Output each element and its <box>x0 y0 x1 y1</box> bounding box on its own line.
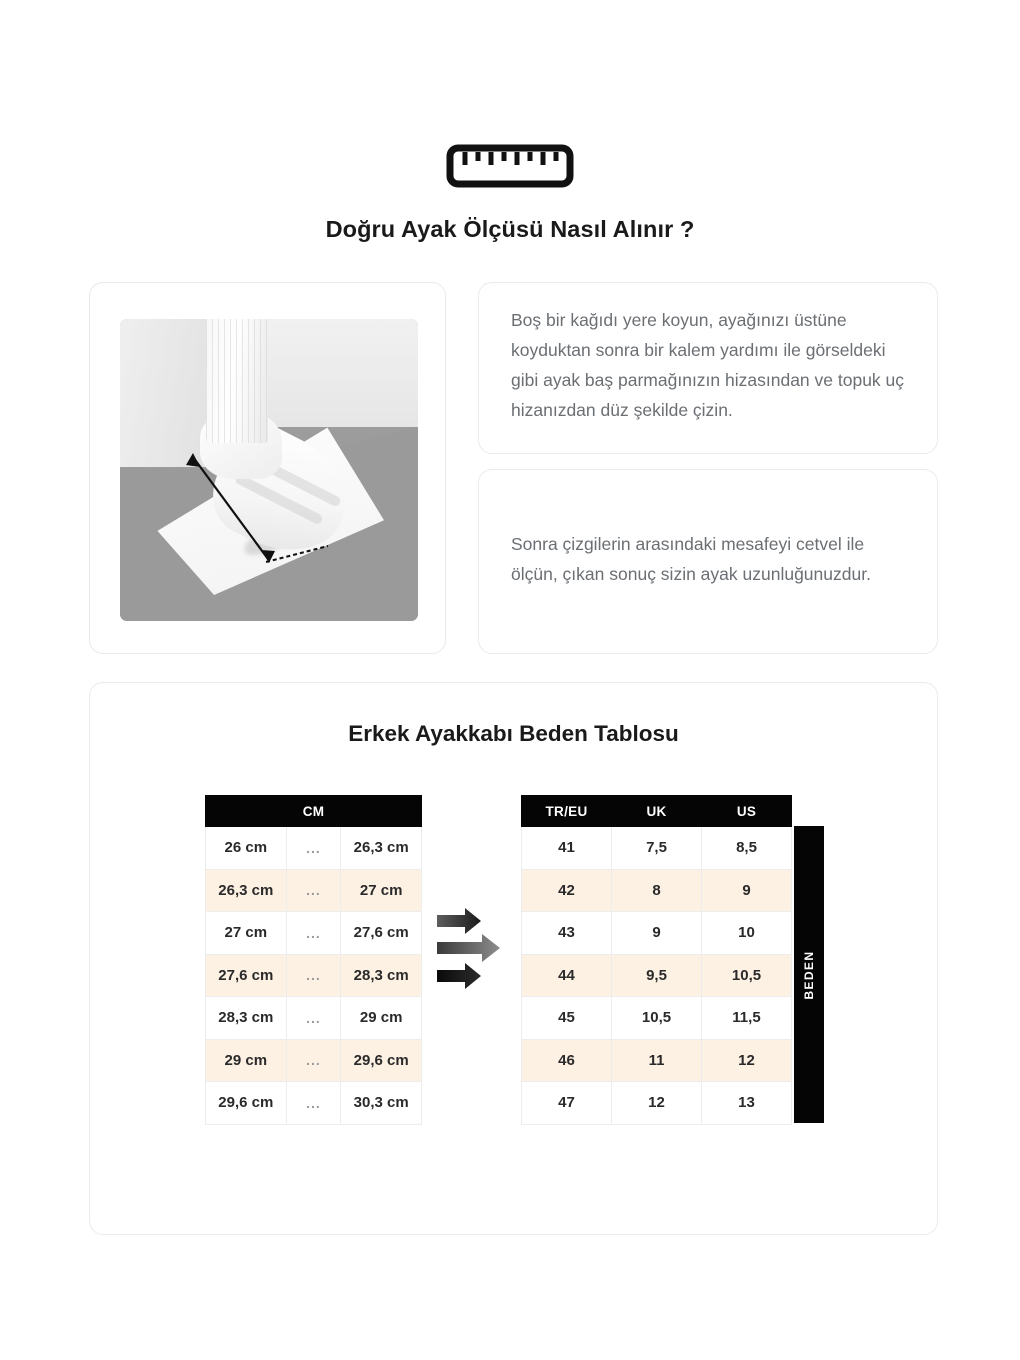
beden-label: BEDEN <box>802 950 816 999</box>
instruction-text-1: Boş bir kağıdı yere koyun, ayağınızı üst… <box>511 305 905 425</box>
size-us: 10 <box>701 912 791 955</box>
foot-measurement-photo <box>120 319 418 621</box>
size-chart-title: Erkek Ayakkabı Beden Tablosu <box>90 721 937 747</box>
size-tr-eu: 43 <box>522 912 612 955</box>
size-table-header-tr-eu: TR/EU <box>522 796 612 827</box>
table-row: 26 cm ... 26,3 cm <box>206 827 422 870</box>
size-us: 12 <box>701 1039 791 1082</box>
cm-to: 30,3 cm <box>341 1082 422 1125</box>
size-tr-eu: 46 <box>522 1039 612 1082</box>
cm-from: 26,3 cm <box>206 869 287 912</box>
cm-separator: ... <box>286 869 341 912</box>
size-uk: 8 <box>612 869 702 912</box>
size-uk: 10,5 <box>612 997 702 1040</box>
cm-separator: ... <box>286 954 341 997</box>
cm-table-header-row: CM <box>206 796 422 827</box>
cm-to: 26,3 cm <box>341 827 422 870</box>
size-table-header-us: US <box>701 796 791 827</box>
table-row: 45 10,5 11,5 <box>522 997 792 1040</box>
table-row: 28,3 cm ... 29 cm <box>206 997 422 1040</box>
cm-separator: ... <box>286 912 341 955</box>
size-uk: 9,5 <box>612 954 702 997</box>
cm-to: 27 cm <box>341 869 422 912</box>
size-tr-eu: 44 <box>522 954 612 997</box>
size-tr-eu: 45 <box>522 997 612 1040</box>
size-tr-eu: 41 <box>522 827 612 870</box>
instruction-photo-card <box>89 282 446 654</box>
table-row: 46 11 12 <box>522 1039 792 1082</box>
size-uk: 7,5 <box>612 827 702 870</box>
size-table: TR/EU UK US 41 7,5 8,5 42 8 9 43 9 10 <box>521 795 792 1125</box>
size-table-header-row: TR/EU UK US <box>522 796 792 827</box>
table-row: 27,6 cm ... 28,3 cm <box>206 954 422 997</box>
ruler-icon <box>445 142 575 190</box>
size-table-header-uk: UK <box>612 796 702 827</box>
size-uk: 9 <box>612 912 702 955</box>
table-row: 26,3 cm ... 27 cm <box>206 869 422 912</box>
page-title: Doğru Ayak Ölçüsü Nasıl Alınır ? <box>0 216 1020 243</box>
table-row: 27 cm ... 27,6 cm <box>206 912 422 955</box>
cm-from: 29,6 cm <box>206 1082 287 1125</box>
cm-from: 27,6 cm <box>206 954 287 997</box>
size-us: 8,5 <box>701 827 791 870</box>
cm-separator: ... <box>286 997 341 1040</box>
size-tr-eu: 42 <box>522 869 612 912</box>
beden-side-column: BEDEN <box>794 826 824 1123</box>
cm-separator: ... <box>286 1082 341 1125</box>
size-tr-eu: 47 <box>522 1082 612 1125</box>
size-us: 11,5 <box>701 997 791 1040</box>
cm-from: 29 cm <box>206 1039 287 1082</box>
instruction-card-2: Sonra çizgilerin arasındaki mesafeyi cet… <box>478 469 938 654</box>
cm-from: 27 cm <box>206 912 287 955</box>
table-row: 43 9 10 <box>522 912 792 955</box>
cm-to: 29,6 cm <box>341 1039 422 1082</box>
cm-separator: ... <box>286 827 341 870</box>
table-row: 29,6 cm ... 30,3 cm <box>206 1082 422 1125</box>
size-us: 13 <box>701 1082 791 1125</box>
table-row: 47 12 13 <box>522 1082 792 1125</box>
table-row: 29 cm ... 29,6 cm <box>206 1039 422 1082</box>
table-row: 42 8 9 <box>522 869 792 912</box>
ruler-icon-wrapper <box>0 142 1020 190</box>
table-row: 44 9,5 10,5 <box>522 954 792 997</box>
size-us: 9 <box>701 869 791 912</box>
instruction-text-2: Sonra çizgilerin arasındaki mesafeyi cet… <box>511 529 905 589</box>
size-uk: 12 <box>612 1082 702 1125</box>
table-row: 41 7,5 8,5 <box>522 827 792 870</box>
right-arrows-icon <box>435 905 530 995</box>
instruction-card-1: Boş bir kağıdı yere koyun, ayağınızı üst… <box>478 282 938 454</box>
cm-separator: ... <box>286 1039 341 1082</box>
cm-from: 28,3 cm <box>206 997 287 1040</box>
size-chart-card: Erkek Ayakkabı Beden Tablosu CM 26 cm ..… <box>89 682 938 1235</box>
measurement-arrow-icon <box>120 319 418 621</box>
size-us: 10,5 <box>701 954 791 997</box>
cm-table-header-cell: CM <box>206 796 422 827</box>
cm-to: 28,3 cm <box>341 954 422 997</box>
size-uk: 11 <box>612 1039 702 1082</box>
cm-from: 26 cm <box>206 827 287 870</box>
cm-to: 27,6 cm <box>341 912 422 955</box>
cm-table: CM 26 cm ... 26,3 cm 26,3 cm ... 27 cm 2… <box>205 795 422 1125</box>
cm-to: 29 cm <box>341 997 422 1040</box>
